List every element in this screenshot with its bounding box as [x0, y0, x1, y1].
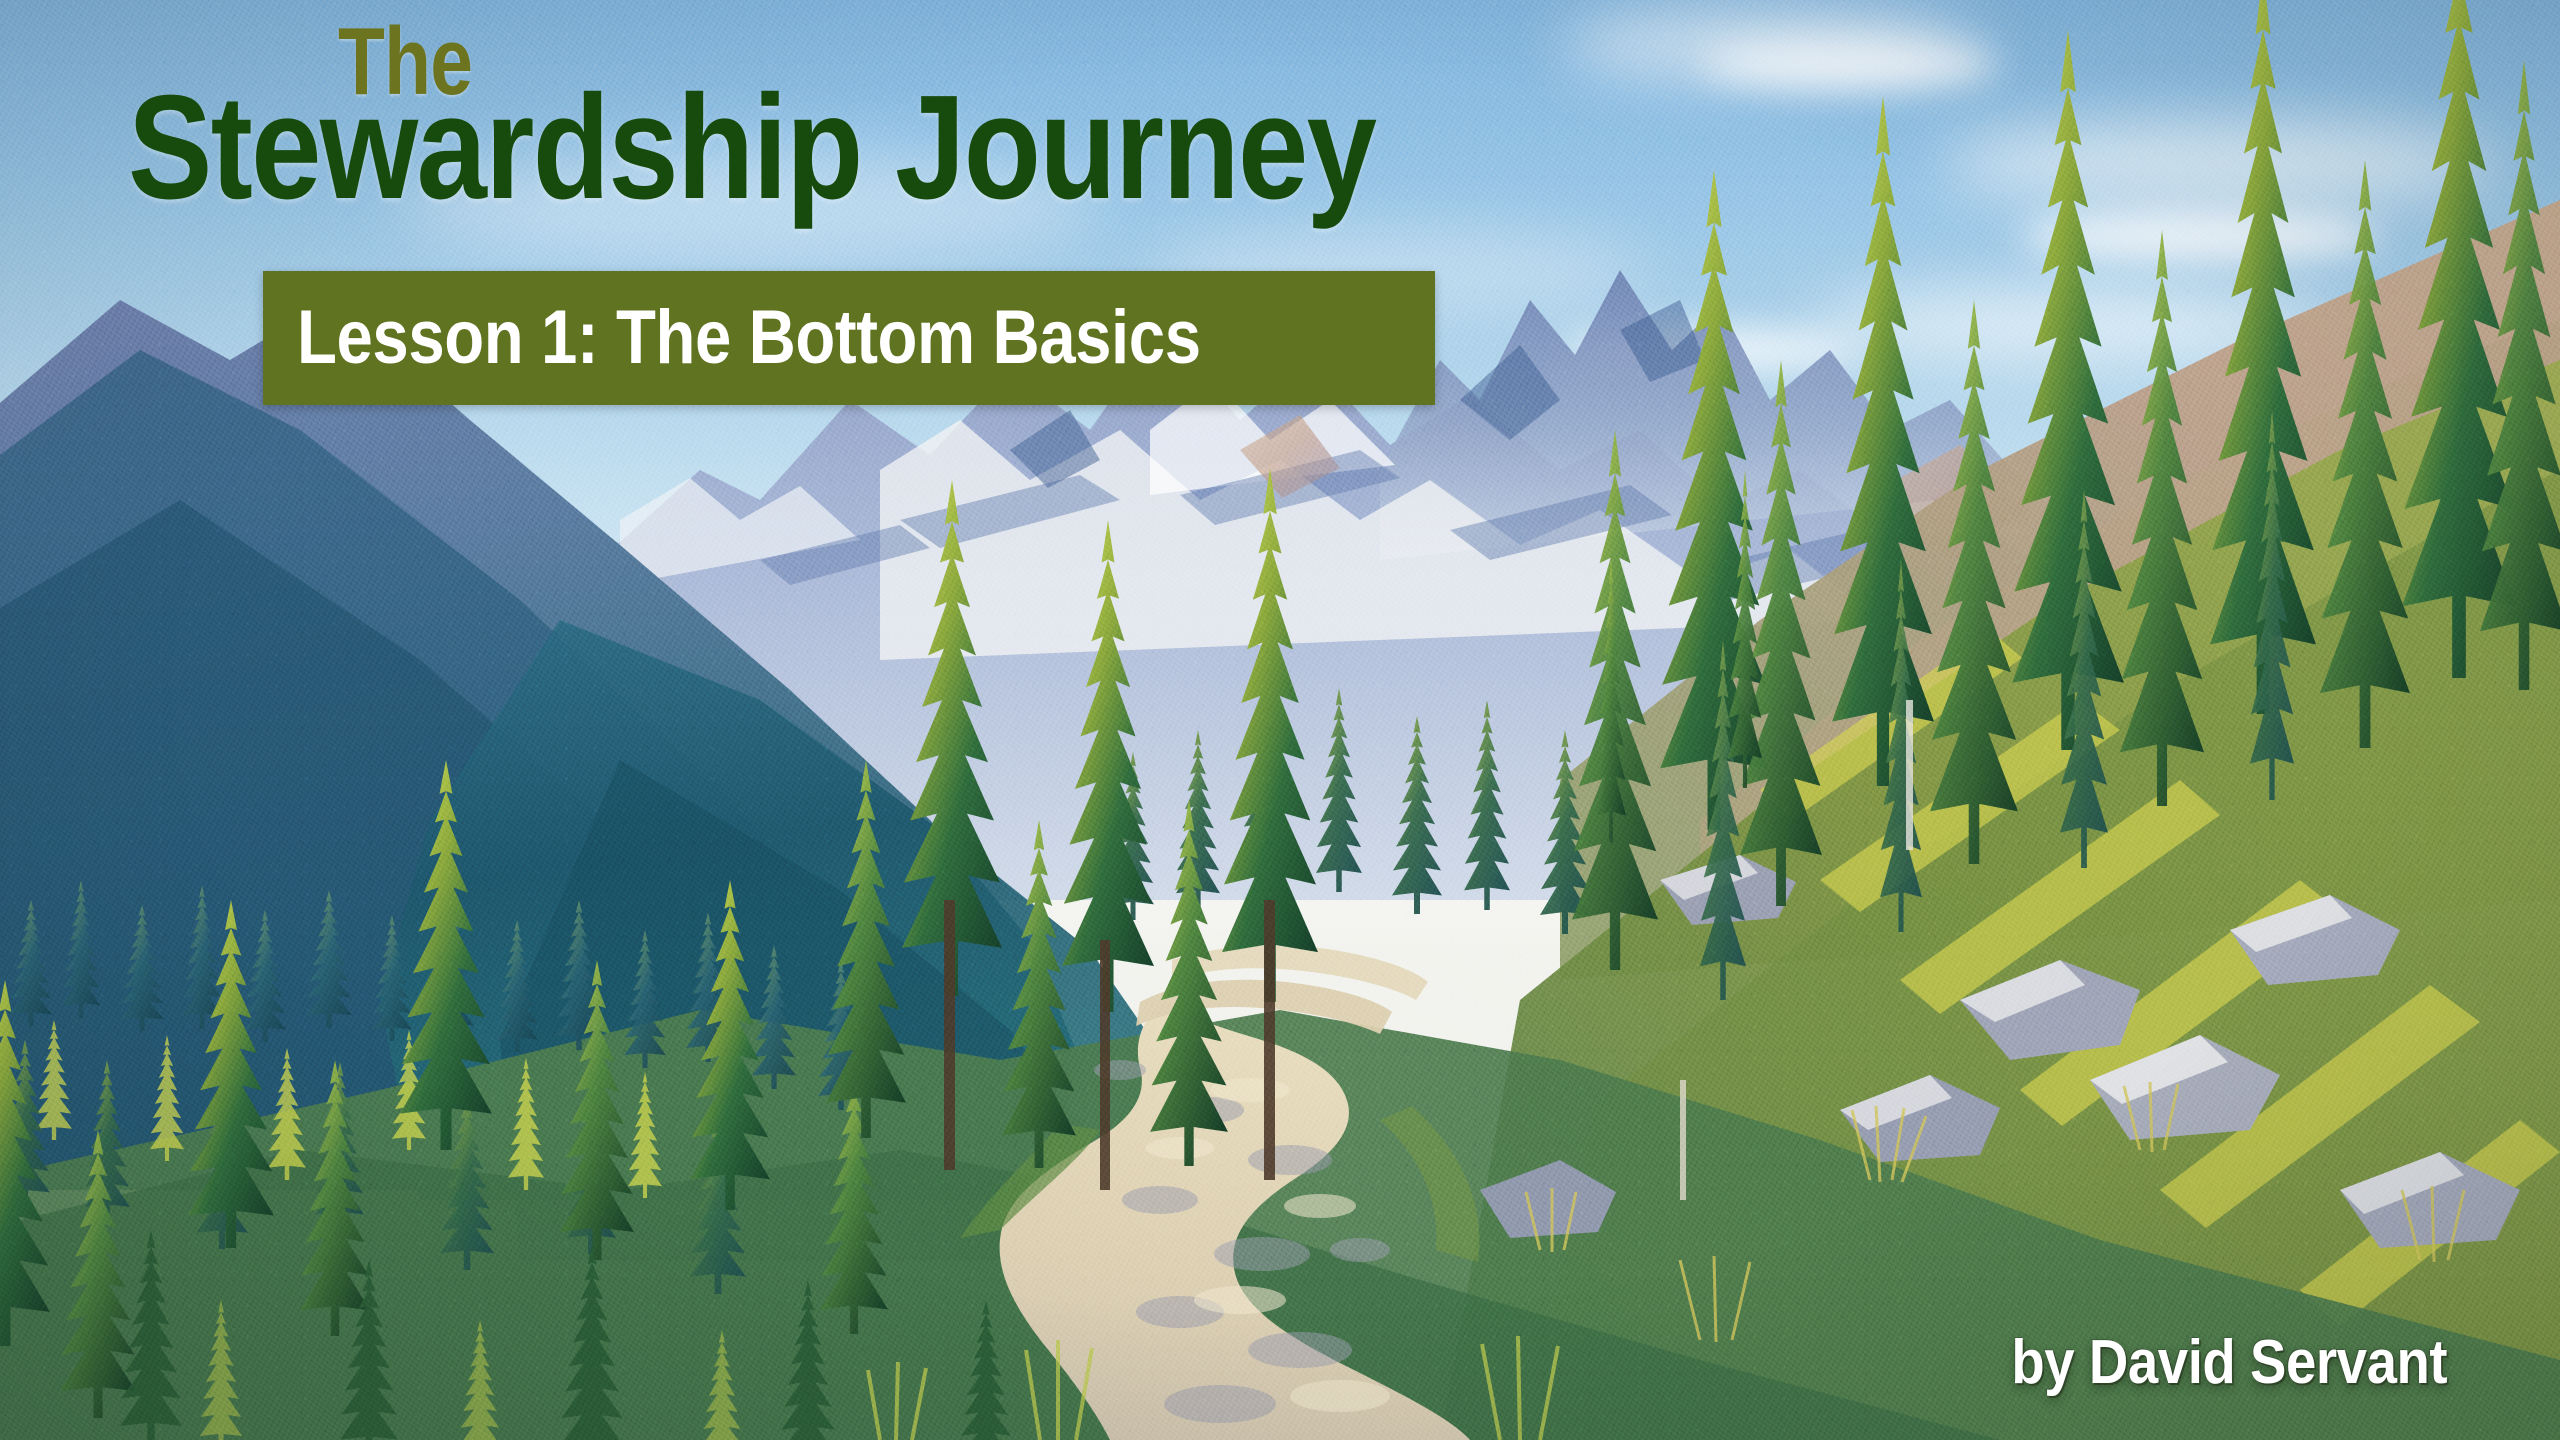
conifer-trees-layer [0, 0, 2560, 1440]
poster-canvas: The Stewardship Journey Lesson 1: The Bo… [0, 0, 2560, 1440]
